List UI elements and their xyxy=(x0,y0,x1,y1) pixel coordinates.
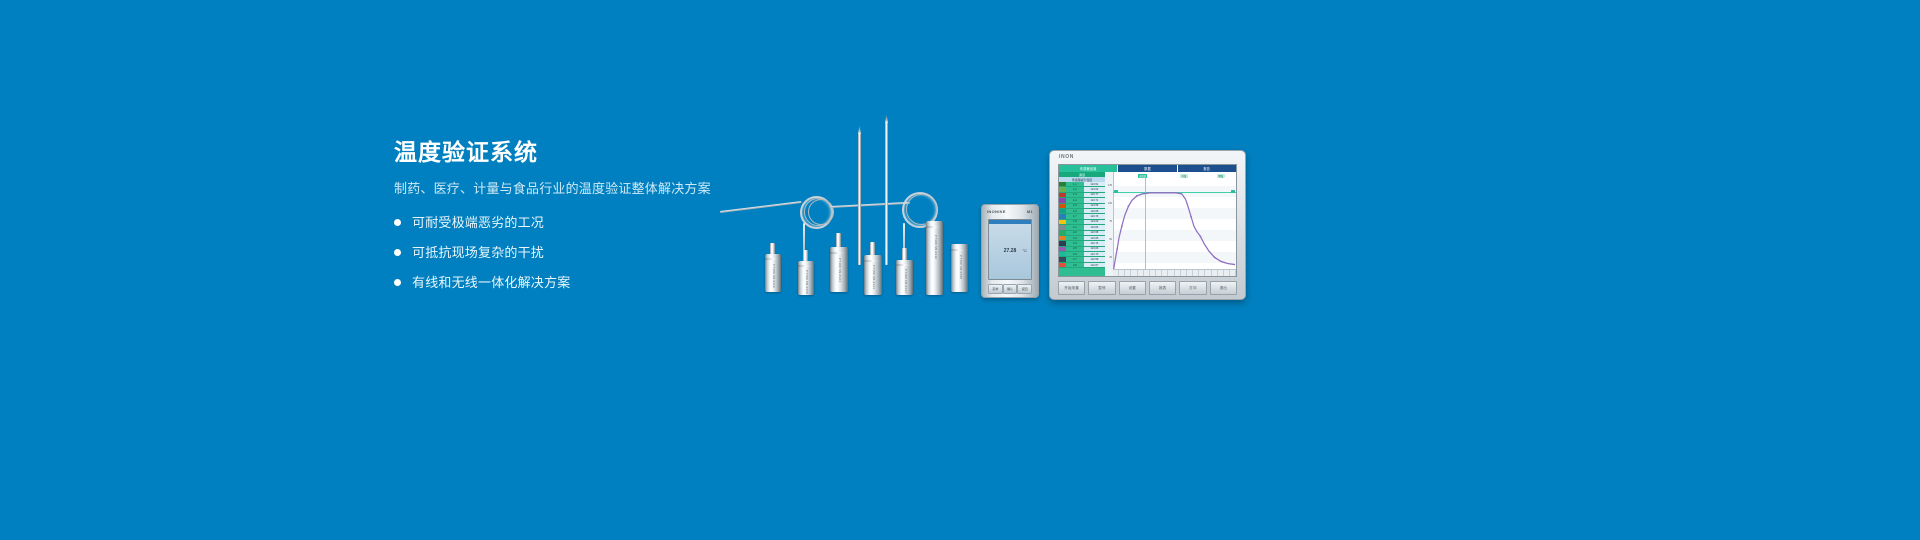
probe-wire xyxy=(720,201,802,213)
sensor-color-swatch xyxy=(1059,182,1066,186)
sensor-value-cell: 124.58 xyxy=(1084,231,1105,235)
logger-label: PT100 SN-0131 xyxy=(872,265,876,289)
logger-label: PT100 SN-0118 xyxy=(805,270,809,294)
sensor-value-cell: 124.59 xyxy=(1084,257,1105,261)
sensor-color-swatch xyxy=(1059,204,1066,208)
logger-label: PT100 SN-0112 xyxy=(772,264,776,288)
feature-label: 可抵抗现场复杂的干扰 xyxy=(412,244,544,261)
sensor-id-cell: 2-6 xyxy=(1066,253,1084,256)
sensor-value-cell: 124.67 xyxy=(1084,263,1105,267)
sensor-id-cell: 1-4 xyxy=(1066,199,1084,202)
sensor-color-swatch xyxy=(1059,231,1066,235)
sensor-table: 通道 传感器编号/温度 1-1124.511-2124.621-3124.771… xyxy=(1059,172,1105,276)
probe-coil-ring xyxy=(808,199,834,225)
product-banner: 温度验证系统 制药、医疗、计量与食品行业的温度验证整体解决方案 可耐受极端恶劣的… xyxy=(0,0,1920,540)
logger-label: PT100 SN-0137 xyxy=(904,269,908,293)
sensor-value-cell: 124.68 xyxy=(1084,209,1105,213)
handheld-reading-unit: °C xyxy=(1023,248,1028,253)
tab-sensor-setup[interactable]: 传感器设置 xyxy=(1059,165,1117,172)
sensor-id-cell: 2-4 xyxy=(1066,242,1084,245)
sensor-value-cell: 124.71 xyxy=(1084,198,1105,202)
monitor-button-pause[interactable]: 暂停 xyxy=(1088,281,1115,295)
sensor-color-swatch xyxy=(1059,252,1066,256)
monitor-button-bar: 开始采集 暂停 设置 报表 打印 退出 xyxy=(1058,281,1237,295)
sensor-color-swatch xyxy=(1059,193,1066,197)
sensor-color-swatch xyxy=(1059,214,1066,218)
logger-label: PT100 SN-0142 xyxy=(934,235,938,259)
sensor-id-cell: 2-7 xyxy=(1066,258,1084,261)
sensor-color-swatch xyxy=(1059,198,1066,202)
sensor-color-swatch xyxy=(1059,241,1066,245)
sensor-value-cell: 124.66 xyxy=(1084,236,1105,240)
probe-wire xyxy=(830,202,910,208)
handheld-screen: 27.28 °C xyxy=(988,219,1032,280)
sensor-id-cell: 1-3 xyxy=(1066,193,1084,196)
sensor-color-swatch xyxy=(1059,263,1066,267)
sensor-value-cell: 124.60 xyxy=(1084,220,1105,224)
sensor-value-cell: 124.82 xyxy=(1084,225,1105,229)
handheld-model-label: M1 xyxy=(1027,209,1033,214)
sensor-id-cell: 2-5 xyxy=(1066,247,1084,250)
monitor-screen: 传感器设置 数据 报告 通道 传感器编号/温度 1-1124.511-2124.… xyxy=(1058,164,1237,277)
sensor-id-cell: 1-6 xyxy=(1066,210,1084,213)
sensor-id-cell: 2-1 xyxy=(1066,226,1084,229)
handheld-key[interactable]: 确认 xyxy=(1003,284,1018,294)
handheld-statusbar xyxy=(989,220,1031,224)
tab-data[interactable]: 数据 xyxy=(1118,165,1176,172)
sensor-value-cell: 124.74 xyxy=(1084,241,1105,245)
sensor-id-cell: 2-3 xyxy=(1066,237,1084,240)
monitor-button-settings[interactable]: 设置 xyxy=(1119,281,1146,295)
product-photo-group: PT100 SN-0112 PT100 SN-0118 PT100 SN-012… xyxy=(700,120,1220,310)
sensor-value-cell: 124.55 xyxy=(1084,204,1105,208)
sensor-color-swatch xyxy=(1059,257,1066,261)
logger-label: PT100 SN-0150 xyxy=(959,255,963,279)
handheld-key[interactable]: 菜单 xyxy=(988,284,1003,294)
temperature-chart: 125 100 75 50 25 灭菌段 升温 降温 xyxy=(1105,172,1236,276)
bullet-dot-icon xyxy=(394,249,401,256)
sensor-id-cell: 2-2 xyxy=(1066,231,1084,234)
sensor-id-cell: 1-1 xyxy=(1066,183,1084,186)
handheld-keypad: 菜单 确认 返回 xyxy=(988,283,1032,294)
sensor-color-swatch xyxy=(1059,187,1066,191)
sensor-color-swatch xyxy=(1059,247,1066,251)
monitor-button-report[interactable]: 报表 xyxy=(1149,281,1176,295)
monitor-button-print[interactable]: 打印 xyxy=(1179,281,1206,295)
sensor-value-cell: 124.77 xyxy=(1084,193,1105,197)
needle-probe xyxy=(858,133,861,265)
table-row[interactable]: 2-8124.67 xyxy=(1059,263,1105,268)
sensor-id-cell: 2-8 xyxy=(1066,264,1084,267)
bullet-dot-icon xyxy=(394,279,401,286)
sensor-id-cell: 1-2 xyxy=(1066,188,1084,191)
sensor-value-cell: 124.51 xyxy=(1084,182,1105,186)
feature-label: 有线和无线一体化解决方案 xyxy=(412,274,570,291)
table-rows-container: 1-1124.511-2124.621-3124.771-4124.711-51… xyxy=(1059,182,1105,268)
feature-label: 可耐受极端恶劣的工况 xyxy=(412,214,544,231)
monitor-device[interactable]: INON 传感器设置 数据 报告 通道 传感器编号/温度 1-1124.511-… xyxy=(1049,150,1246,300)
sensor-value-cell: 124.70 xyxy=(1084,252,1105,256)
bullet-dot-icon xyxy=(394,219,401,226)
screen-body: 通道 传感器编号/温度 1-1124.511-2124.621-3124.771… xyxy=(1059,172,1236,276)
chart-x-axis xyxy=(1113,269,1236,276)
sensor-id-cell: 1-7 xyxy=(1066,215,1084,218)
sensor-id-cell: 1-8 xyxy=(1066,220,1084,223)
sensor-color-swatch xyxy=(1059,209,1066,213)
sensor-value-cell: 124.63 xyxy=(1084,247,1105,251)
sensor-value-cell: 124.62 xyxy=(1084,187,1105,191)
screen-tab-bar: 传感器设置 数据 报告 xyxy=(1059,165,1236,172)
handheld-brand-row: INONIKE M1 xyxy=(987,209,1033,214)
needle-probe xyxy=(885,122,888,265)
logger-label: PT100 SN-0124 xyxy=(838,258,842,282)
handheld-brand-label: INONIKE xyxy=(987,209,1006,214)
sensor-color-swatch xyxy=(1059,220,1066,224)
sensor-color-swatch xyxy=(1059,236,1066,240)
sensor-color-swatch xyxy=(1059,225,1066,229)
handheld-reader[interactable]: INONIKE M1 27.28 °C 菜单 确认 返回 xyxy=(981,204,1039,298)
monitor-button-start[interactable]: 开始采集 xyxy=(1058,281,1085,295)
tab-report[interactable]: 报告 xyxy=(1178,165,1236,172)
sensor-value-cell: 124.73 xyxy=(1084,214,1105,218)
handheld-key[interactable]: 返回 xyxy=(1017,284,1032,294)
monitor-brand-label: INON xyxy=(1059,154,1074,160)
sensor-id-cell: 1-5 xyxy=(1066,204,1084,207)
temperature-curve xyxy=(1105,172,1236,276)
monitor-button-exit[interactable]: 退出 xyxy=(1210,281,1237,295)
